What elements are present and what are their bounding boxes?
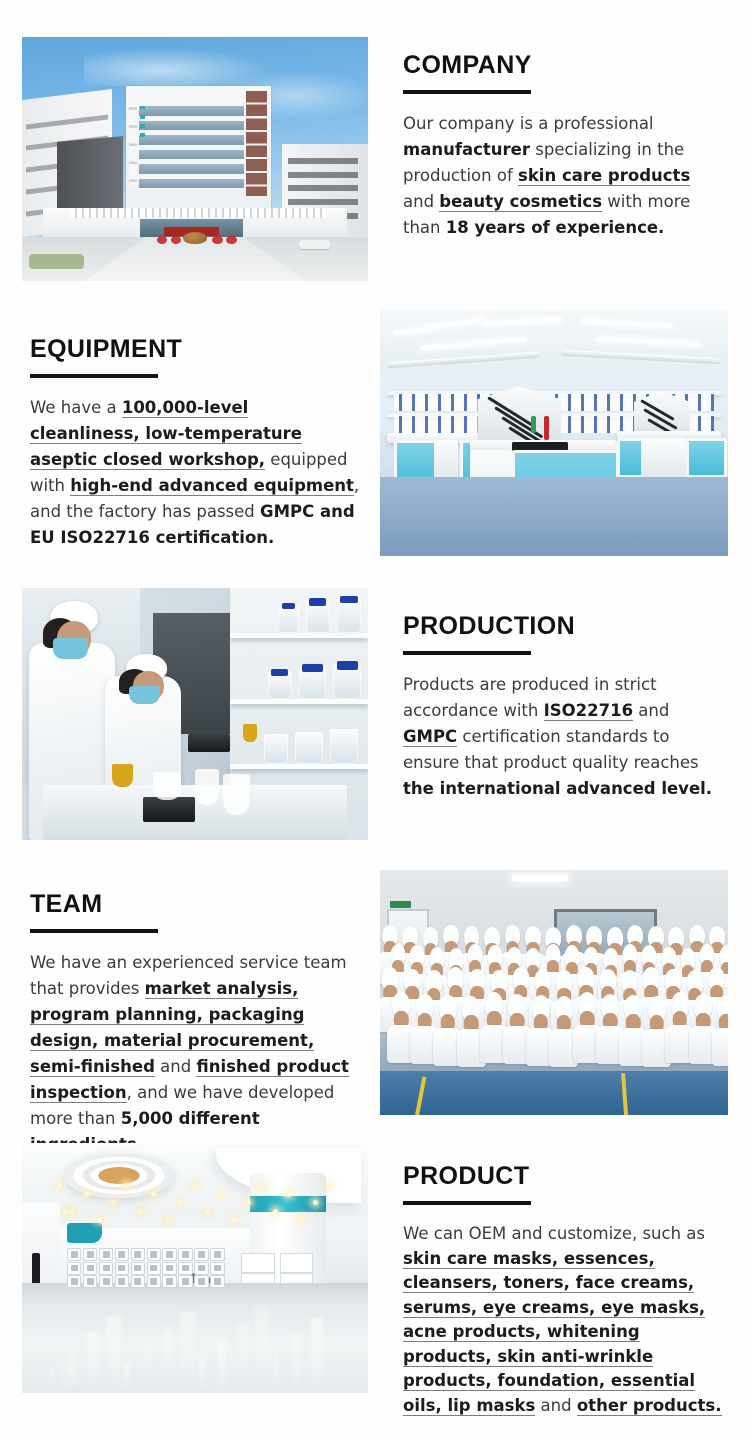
equipment-heading-rule [30,374,158,378]
display-cell [83,1262,97,1275]
display-cell [178,1262,192,1275]
text-run: manufacturer [403,140,530,159]
floor-reflection [255,1306,270,1394]
text-run: beauty cosmetics [439,192,602,212]
text-run: 18 years of experience. [446,218,665,237]
display-cell [210,1248,224,1261]
floor-reflection [311,1318,323,1393]
display-cell [99,1248,113,1261]
production-text-column: PRODUCTION Products are produced in stri… [403,613,725,819]
spotlight [246,1200,251,1205]
display-cell [194,1262,208,1275]
floor-reflection [293,1336,302,1394]
text-run: skin care masks, essences, cleansers, to… [403,1249,705,1416]
text-run: other products. [577,1396,722,1416]
display-cell [115,1248,129,1261]
display-cell [147,1262,161,1275]
floor-reflection [218,1341,227,1394]
spotlight [151,1192,156,1197]
company-heading: COMPANY [403,52,725,78]
display-cell [210,1262,224,1275]
spotlight [259,1183,264,1188]
staff-member [712,995,728,1063]
display-cell [115,1262,129,1275]
display-cell [67,1275,81,1288]
display-cell [99,1275,113,1288]
display-cell [115,1275,129,1288]
equipment-text-column: EQUIPMENT We have a 100,000-level cleanl… [30,336,360,568]
spotlight [57,1183,62,1188]
text-run: and [633,701,669,720]
product-showroom-photo [22,1143,368,1393]
spotlight [138,1209,143,1214]
text-run: high-end advanced equipment [70,476,354,496]
display-cell [131,1248,145,1261]
display-cell [99,1262,113,1275]
team-heading: TEAM [30,891,362,917]
floor-reflection [87,1333,99,1393]
display-cell [194,1275,208,1288]
spotlight [165,1217,170,1222]
text-run: and [535,1396,577,1415]
production-heading-rule [403,651,531,655]
spotlight [63,1209,68,1214]
floor-reflection [143,1346,152,1394]
display-cell [147,1275,161,1288]
text-run: and [403,192,439,211]
floor-reflection [60,1366,75,1394]
display-cell [131,1262,145,1275]
display-cell [83,1248,97,1261]
display-cell [210,1275,224,1288]
equipment-heading: EQUIPMENT [30,336,360,362]
spotlight [205,1209,210,1214]
display-cell [131,1275,145,1288]
floor-reflection [237,1323,249,1393]
display-cell [162,1262,176,1275]
spotlight [70,1209,75,1214]
text-run: We can OEM and customize, such as [403,1224,705,1243]
display-cell [147,1248,161,1261]
display-cell [67,1262,81,1275]
floor-reflection [50,1368,56,1393]
product-paragraph: We can OEM and customize, such as skin c… [403,1222,725,1418]
product-heading: PRODUCT [403,1163,725,1189]
text-run: and [155,1057,197,1076]
spotlight [232,1217,237,1222]
crowd-layer [380,924,728,1066]
spotlight [111,1200,116,1205]
text-run: We have a [30,398,122,417]
floor-reflection [199,1358,205,1393]
company-building-photo [22,37,368,281]
company-profile-page: COMPANY Our company is a professional ma… [0,0,750,1429]
display-cell [162,1275,176,1288]
floor-reflection [180,1311,195,1394]
team-paragraph: We have an experienced service team that… [30,950,362,1158]
spotlight [178,1200,183,1205]
floor-reflection [274,1353,280,1393]
company-paragraph: Our company is a professional manufactur… [403,111,725,241]
text-run: the international advanced level. [403,779,712,798]
staff-group-photo [380,870,728,1115]
company-heading-rule [403,90,531,94]
floor-reflection [162,1328,174,1393]
display-cell [83,1275,97,1288]
display-cell [67,1248,81,1261]
floor-reflection [124,1363,130,1393]
text-run: GMPC [403,727,457,747]
display-cell [162,1248,176,1261]
equipment-paragraph: We have a 100,000-level cleanliness, low… [30,395,360,551]
spotlight [84,1192,89,1197]
production-heading: PRODUCTION [403,613,725,639]
display-cell [178,1275,192,1288]
text-run: skin care products [518,166,690,186]
spotlight [286,1192,291,1197]
team-text-column: TEAM We have an experienced service team… [30,891,362,1175]
product-text-column: PRODUCT We can OEM and customize, such a… [403,1163,725,1435]
display-cell [194,1248,208,1261]
spotlight [313,1200,318,1205]
production-paragraph: Products are produced in strict accordan… [403,672,725,802]
laboratory-cleanroom-photo [380,310,728,556]
text-run: Our company is a professional [403,114,654,133]
display-cell [178,1248,192,1261]
spotlight [192,1183,197,1188]
floor-reflection [106,1316,121,1394]
product-heading-rule [403,1201,531,1205]
team-heading-rule [30,929,158,933]
company-text-column: COMPANY Our company is a professional ma… [403,52,725,258]
spotlight [273,1209,278,1214]
spotlight [219,1192,224,1197]
text-run: ISO22716 [544,701,633,721]
technicians-compounding-photo [22,588,368,840]
